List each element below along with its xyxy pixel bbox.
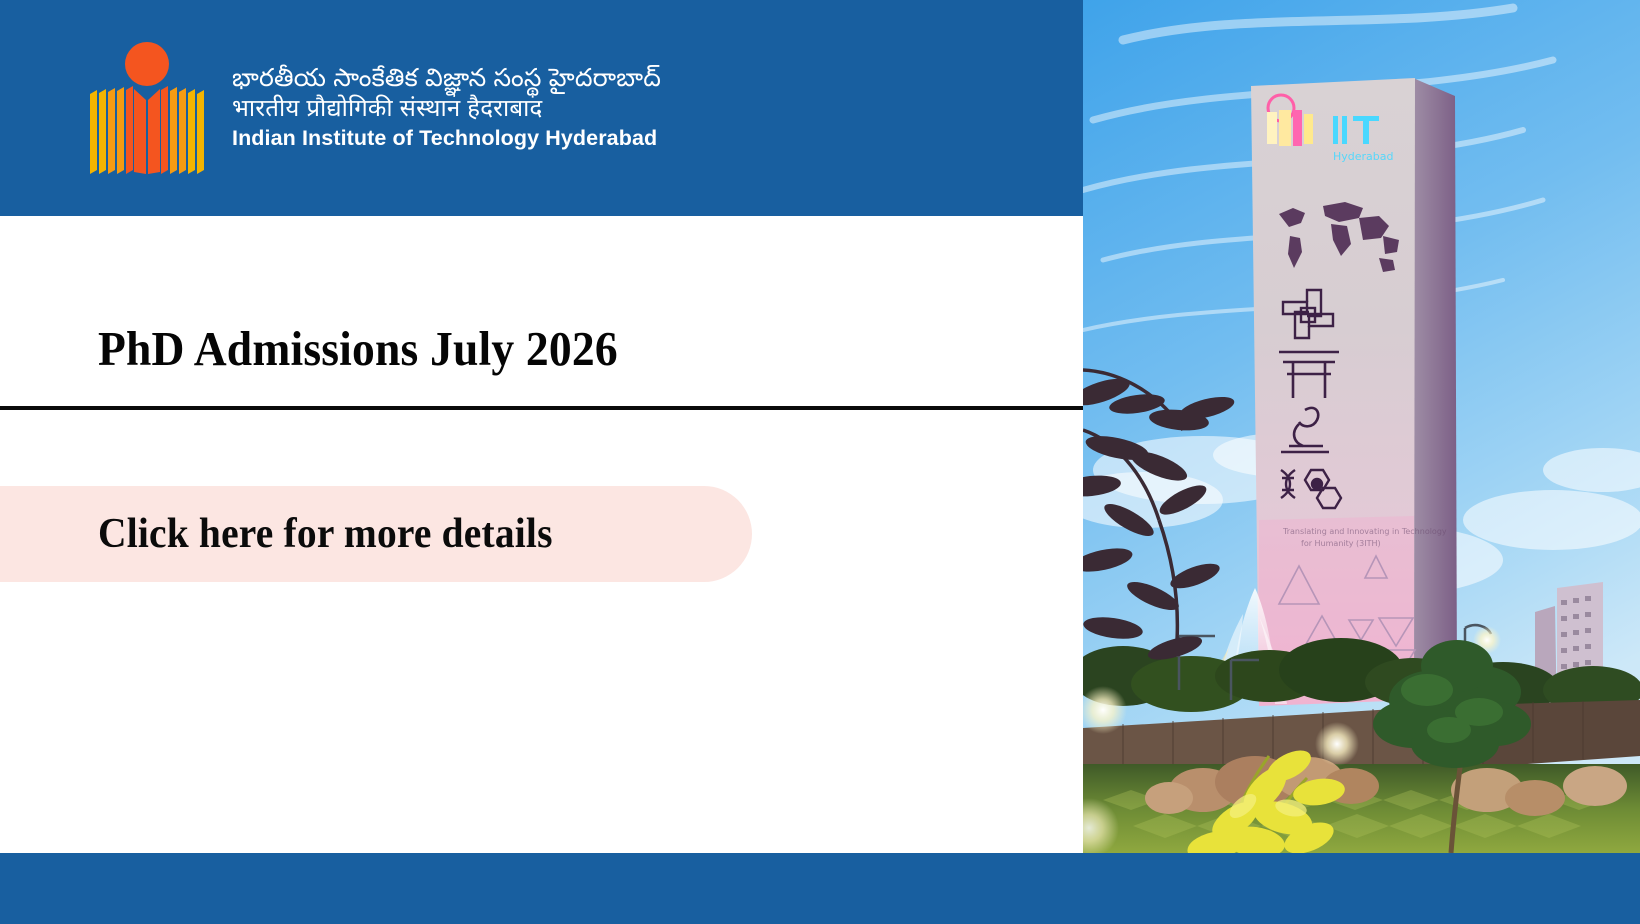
horizontal-divider (0, 406, 1083, 410)
content-area: PhD Admissions July 2026 Click here for … (0, 216, 1083, 853)
institute-brand: భారతీయ సాంకేతిక విజ్ఞాన సంస్థ హైదరాబాద్ … (88, 42, 661, 174)
ground-light-center (1315, 722, 1359, 766)
header-bar: భారతీయ సాంకేతిక విజ్ఞాన సంస్థ హైదరాబాద్ … (0, 0, 1083, 216)
page-title: PhD Admissions July 2026 (98, 320, 618, 377)
institute-wordmark: భారతీయ సాంకేతిక విజ్ఞాన సంస్థ హైదరాబాద్ … (232, 63, 661, 153)
footer-bar (0, 853, 1640, 924)
logo-head-icon (125, 42, 169, 86)
open-book-icon (88, 84, 206, 174)
svg-text:Translating and Innovating in: Translating and Innovating in Technology (1282, 527, 1447, 536)
campus-photo-illustration: Hyderabad (1083, 0, 1640, 853)
svg-text:for Humanity (3ITH): for Humanity (3ITH) (1301, 539, 1381, 548)
institute-name-english: Indian Institute of Technology Hyderabad (232, 124, 661, 153)
institute-name-telugu: భారతీయ సాంకేతిక విజ్ఞాన సంస్థ హైదరాబాద్ (232, 63, 661, 94)
campus-photo: Hyderabad (1083, 0, 1640, 853)
iith-logo (88, 42, 206, 174)
more-details-label: Click here for more details (98, 510, 553, 558)
promo-banner: భారతీయ సాంకేతిక విజ్ఞాన సంస్థ హైదరాబాద్ … (0, 0, 1640, 924)
svg-text:Hyderabad: Hyderabad (1333, 150, 1394, 163)
institute-name-hindi: भारतीय प्रौद्योगिकी संस्थान हैदराबाद (232, 94, 661, 124)
more-details-button[interactable]: Click here for more details (0, 486, 752, 582)
